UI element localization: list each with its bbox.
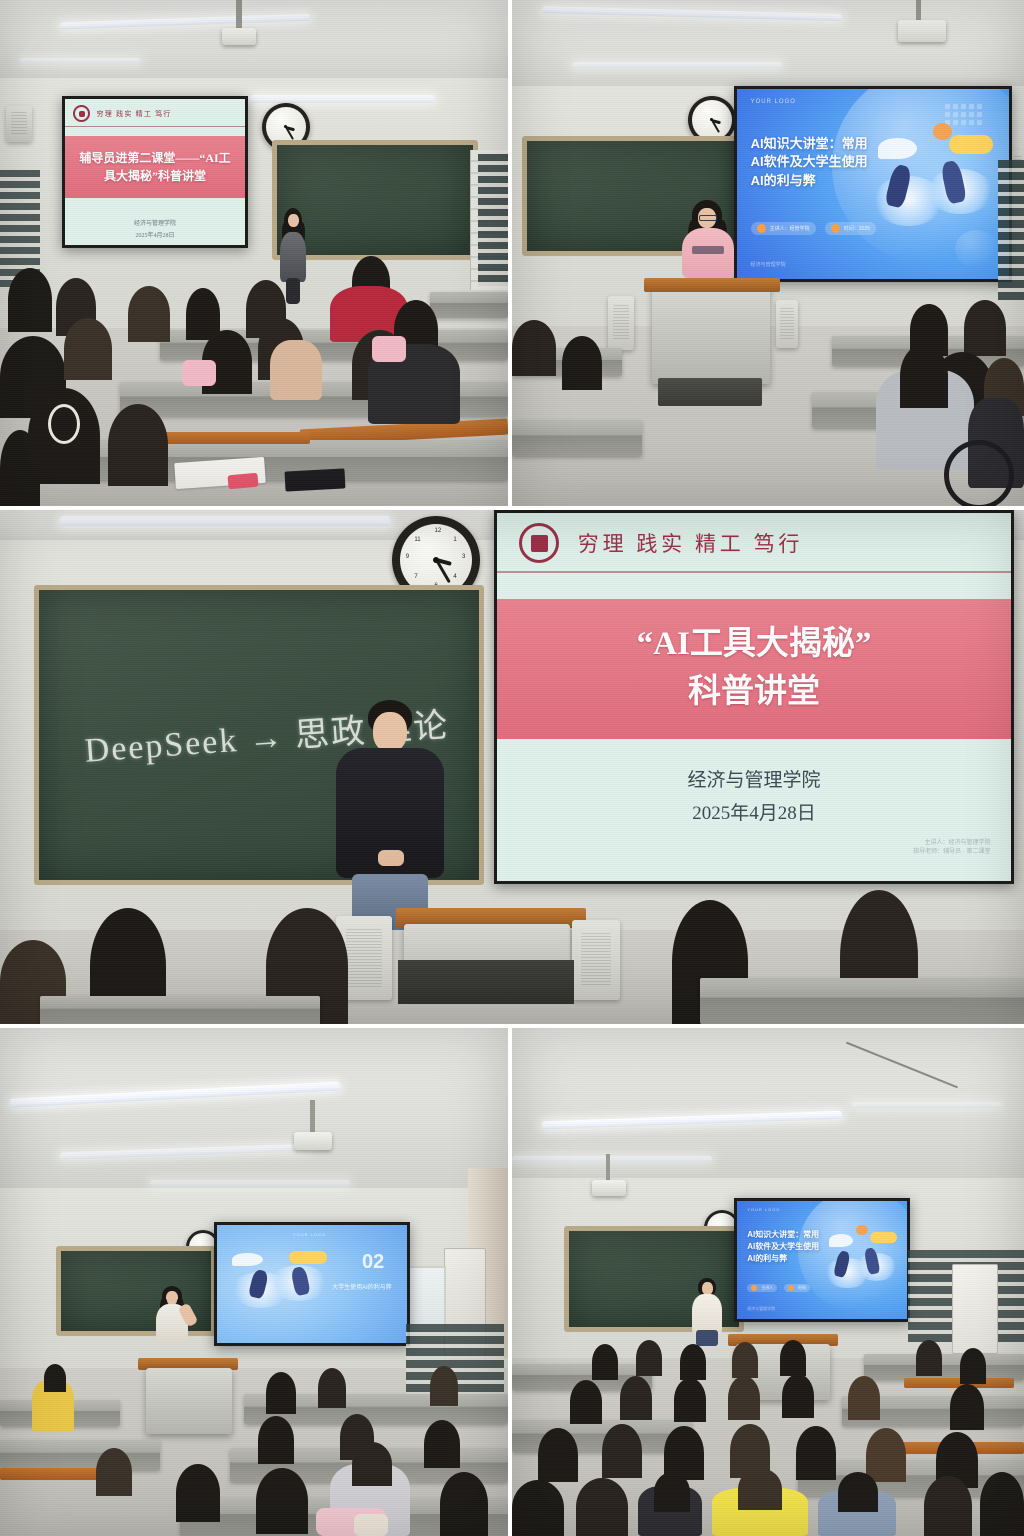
audience-head	[176, 1464, 220, 1522]
audience-head	[674, 1378, 706, 1422]
slide-title-line2: AI软件及大学生使用	[751, 153, 868, 172]
audience-person	[270, 340, 322, 400]
slide-pill-text: 主讲人	[761, 1285, 773, 1291]
audience-head	[512, 1480, 564, 1536]
podium-base	[398, 960, 574, 1004]
wall-speaker	[6, 106, 32, 142]
audience-head	[602, 1424, 642, 1478]
dot-icon	[831, 224, 840, 233]
panel-bottom-right: YOUR LOGO AI知识大讲堂：常用 AI软件及大学生使用 AI的利与弊 主…	[512, 1028, 1024, 1536]
slide-footer: 经济与管理学院	[751, 261, 786, 268]
audience-head	[318, 1368, 346, 1408]
audience-head	[848, 1376, 880, 1420]
wall-lockers	[998, 160, 1024, 300]
cabinet	[952, 1264, 998, 1354]
audience-head	[866, 1428, 906, 1482]
dot-icon	[788, 1285, 794, 1291]
clock-tick: 1	[453, 537, 456, 543]
slide-org: 经济与管理学院	[687, 765, 820, 792]
audience-head	[780, 1340, 806, 1376]
slide-motto: 穷理 践实 精工 笃行	[578, 528, 803, 558]
desk-row	[430, 292, 508, 318]
clock-tick: 12	[435, 528, 442, 534]
slide-title: AI知识大讲堂：常用 AI软件及大学生使用 AI的利与弊	[751, 135, 868, 192]
audience-head	[960, 1348, 986, 1384]
dot-icon	[751, 1285, 757, 1291]
slide-title-line3: AI的利与弊	[747, 1253, 819, 1265]
projector-mount	[236, 0, 242, 30]
audience-head	[728, 1376, 760, 1420]
audience-head	[570, 1380, 602, 1424]
podium-speaker	[608, 296, 634, 350]
bag-on-desk	[354, 1514, 388, 1536]
projection-screen: 穷理 践实 精工 笃行 辅导员进第二课堂——“AI工 具大揭秘”科普讲堂 经济与…	[62, 96, 248, 248]
slide-fineprint: 主讲人：经济与管理学院 指导老师：辅导员 · 第二课堂	[913, 839, 990, 857]
slide-pill: 时间：2025	[825, 222, 876, 235]
audience-head	[924, 1476, 972, 1536]
audience-head	[782, 1374, 814, 1418]
audience-head	[950, 1384, 984, 1430]
audience-head	[916, 1340, 942, 1376]
university-seal-icon	[73, 105, 90, 122]
slide-motto: 穷理 践实 精工 笃行	[97, 109, 172, 119]
presenter-skirt	[696, 1330, 718, 1346]
audience-head	[680, 1344, 706, 1380]
slide-title-band: “AI工具大揭秘” 科普讲堂	[497, 599, 1011, 739]
wall-lockers	[478, 154, 508, 286]
glasses-icon	[699, 215, 717, 221]
slide-footer: 经济与管理学院	[747, 1306, 775, 1312]
audience-head	[424, 1420, 460, 1468]
phone-on-desk	[227, 473, 258, 490]
audience-head	[258, 1416, 294, 1464]
podium	[652, 284, 770, 384]
notebook-on-desk	[285, 468, 346, 491]
audience-head	[186, 288, 220, 340]
projection-screen: YOUR LOGO 02 大学生使用AI的利与弊	[214, 1222, 410, 1346]
audience-head	[732, 1342, 758, 1378]
slide-ai-cover: YOUR LOGO AI知识大讲堂：常用 AI软件及大学生使用 AI的利与弊 主…	[737, 1201, 907, 1319]
audience-head	[838, 1472, 878, 1512]
ceiling-light	[60, 516, 390, 526]
photo-collage: 穷理 践实 精工 笃行 辅导员进第二课堂——“AI工 具大揭秘”科普讲堂 经济与…	[0, 0, 1024, 1536]
audience-head	[654, 1472, 690, 1512]
desk-row	[0, 1440, 160, 1470]
jersey-text	[692, 246, 724, 254]
audience-head	[980, 1472, 1024, 1536]
slide-pill: 主讲人	[747, 1284, 777, 1292]
clock-tick: 7	[414, 574, 417, 580]
wheelchair-wheel	[944, 440, 1014, 506]
ceiling-light	[572, 62, 782, 68]
slide-title-line1: AI知识大讲堂：常用	[751, 135, 868, 154]
presenter	[150, 1286, 194, 1364]
ceiling-light	[20, 58, 140, 63]
clock-tick: 9	[406, 554, 409, 560]
presenter-torso	[280, 232, 306, 282]
clock-tick: 11	[414, 537, 420, 543]
slide-pill: 主讲人：经管学院	[751, 222, 816, 235]
desk-row	[40, 996, 320, 1024]
slide-title-line2: 具大揭秘”科普讲堂	[104, 167, 206, 185]
dot-icon	[757, 224, 766, 233]
slide-title-band: 辅导员进第二课堂——“AI工 具大揭秘”科普讲堂	[65, 136, 245, 198]
audience-head	[538, 1428, 578, 1482]
slide-title-line2: AI软件及大学生使用	[747, 1241, 819, 1253]
slide-fine-line1: 主讲人：经济与管理学院	[913, 839, 990, 848]
audience-head	[108, 404, 168, 486]
audience-head	[620, 1376, 652, 1420]
audience-head	[256, 1468, 308, 1534]
audience-head	[64, 318, 112, 380]
audience-head	[964, 300, 1006, 356]
audience-head	[900, 344, 948, 408]
slide-section-number: 02	[362, 1251, 384, 1274]
podium-speaker	[776, 300, 798, 348]
desk-row	[864, 1354, 1024, 1380]
slide-date: 2025年4月28日	[135, 230, 174, 239]
slide-fine-line2: 指导老师：辅导员 · 第二课堂	[913, 848, 990, 857]
slide-logo: YOUR LOGO	[751, 99, 796, 105]
audience-head	[512, 320, 556, 376]
slide-pill-text: 时间	[798, 1285, 806, 1291]
panel-middle: 12 1 3 4 6 7 9 11 DeepSeek → 思政 理论	[0, 510, 1024, 1024]
projection-screen: YOUR LOGO AI知识大讲堂：常用 AI软件及大学生使用 AI的利与弊 主…	[734, 1198, 910, 1322]
slide-section-subtitle: 大学生使用AI的利与弊	[332, 1282, 392, 1291]
slide-org: 经济与管理学院	[134, 218, 176, 227]
slide-title-line3: AI的利与弊	[751, 172, 868, 191]
audience-head	[8, 268, 52, 332]
slide-date: 2025年4月28日	[692, 798, 816, 825]
audience-head	[738, 1468, 782, 1510]
projection-screen: 穷理 践实 精工 笃行 “AI工具大揭秘” 科普讲堂 经济与管理学院 2025年…	[494, 510, 1014, 884]
ceiling-light	[852, 1102, 1002, 1108]
audience-head	[592, 1344, 618, 1380]
audience-head	[266, 1372, 296, 1414]
clock-tick: 3	[462, 554, 465, 560]
audience-head	[636, 1340, 662, 1376]
bag-on-desk	[372, 336, 406, 362]
audience-head	[576, 1478, 628, 1536]
presenter-torso	[692, 1294, 722, 1334]
desk-row	[512, 420, 642, 456]
ceiling-light	[150, 1180, 350, 1186]
slide-title: AI知识大讲堂：常用 AI软件及大学生使用 AI的利与弊	[747, 1229, 819, 1265]
desk-row	[700, 978, 1024, 1024]
panel-bottom-left: YOUR LOGO 02 大学生使用AI的利与弊	[0, 1028, 508, 1536]
slide-pill-text: 时间：2025	[844, 225, 870, 232]
slide-title-white: 穷理 践实 精工 笃行 “AI工具大揭秘” 科普讲堂 经济与管理学院 2025年…	[497, 513, 1011, 881]
slide-ai-section: YOUR LOGO 02 大学生使用AI的利与弊	[217, 1225, 407, 1343]
projector	[898, 20, 946, 42]
audience-head	[796, 1426, 836, 1480]
audience-head	[562, 336, 602, 390]
podium-base	[658, 378, 762, 406]
audience-head	[430, 1366, 458, 1406]
slide-logo: YOUR LOGO	[747, 1207, 780, 1212]
audience-hair-clip	[48, 404, 80, 444]
presenter-hands	[378, 850, 404, 866]
desk-surface	[160, 432, 310, 444]
panel-top-right: YOUR LOGO AI知识大讲堂：常用 AI软件及大学生使用 AI的利与弊 主…	[512, 0, 1024, 506]
audience-head	[44, 1364, 66, 1392]
audience-head	[440, 1472, 488, 1536]
podium-speaker	[572, 920, 620, 1000]
projector	[592, 1180, 626, 1196]
slide-logo: YOUR LOGO	[293, 1232, 326, 1237]
audience-head	[352, 1442, 392, 1486]
slide-title-line1: 辅导员进第二课堂——“AI工	[79, 149, 230, 167]
desk-surface	[0, 1468, 110, 1480]
projector-mount	[916, 0, 921, 22]
university-seal-icon	[519, 523, 559, 563]
panel-top-left: 穷理 践实 精工 笃行 辅导员进第二课堂——“AI工 具大揭秘”科普讲堂 经济与…	[0, 0, 508, 506]
slide-pill-text: 主讲人：经管学院	[770, 225, 810, 232]
podium	[146, 1368, 232, 1434]
clock-tick: 4	[453, 574, 456, 580]
audience-head	[96, 1448, 132, 1496]
bag-on-desk	[182, 360, 216, 386]
audience-head	[0, 430, 40, 506]
ceiling-light	[512, 1156, 712, 1162]
projector	[222, 28, 256, 45]
slide-pill: 时间	[784, 1284, 810, 1292]
audience-head	[128, 286, 170, 342]
projector	[294, 1132, 332, 1150]
slide-title-line1: AI知识大讲堂：常用	[747, 1229, 819, 1241]
slide-title-white: 穷理 践实 精工 笃行 辅导员进第二课堂——“AI工 具大揭秘”科普讲堂 经济与…	[65, 99, 245, 245]
projector-mount	[310, 1100, 315, 1136]
presenter	[330, 700, 450, 930]
podium-surface	[644, 278, 780, 292]
slide-ai-cover: YOUR LOGO AI知识大讲堂：常用 AI软件及大学生使用 AI的利与弊 主…	[737, 89, 1009, 279]
ceiling-light	[250, 95, 435, 103]
slide-title-line2: 科普讲堂	[688, 669, 820, 717]
projection-screen: YOUR LOGO AI知识大讲堂：常用 AI软件及大学生使用 AI的利与弊 主…	[734, 86, 1012, 282]
slide-title-line1: “AI工具大揭秘”	[637, 621, 872, 669]
